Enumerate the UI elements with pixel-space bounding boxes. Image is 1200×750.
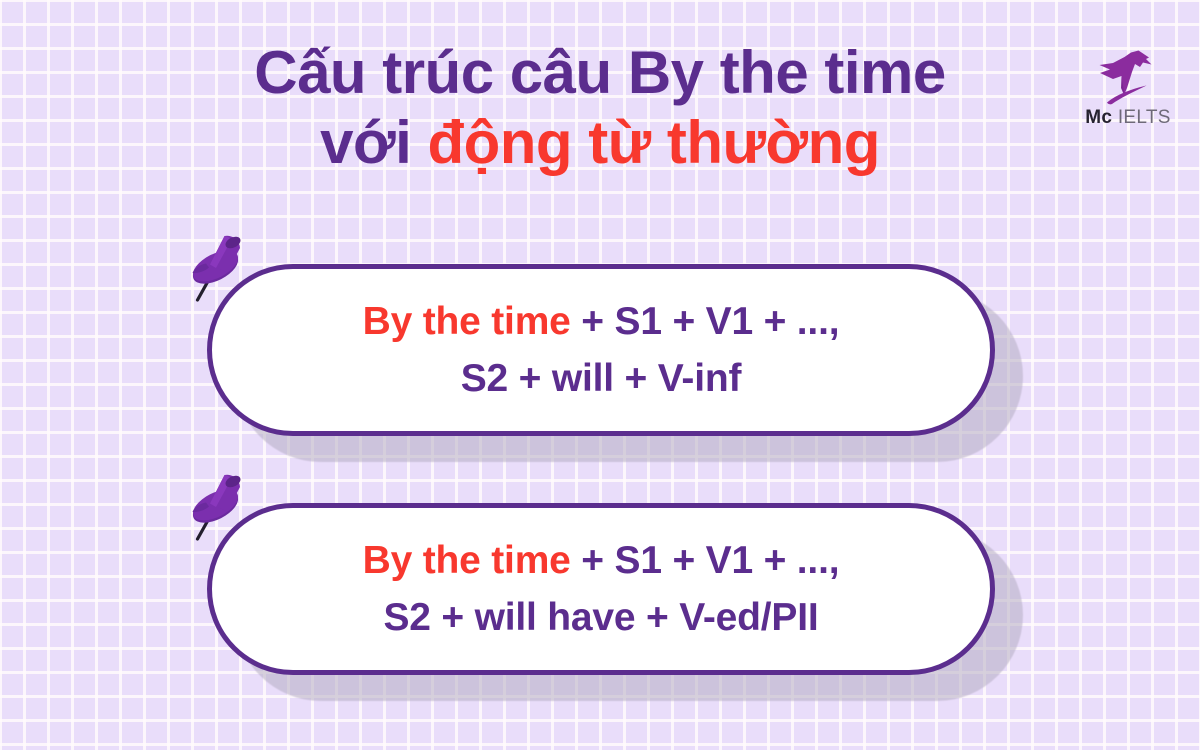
- card-2-line-1-rest: + S1 + V1 + ...,: [571, 539, 840, 582]
- card-1-line-1-rest: + S1 + V1 + ...,: [571, 300, 840, 343]
- pushpin-icon: [183, 471, 253, 547]
- page-title: Cấu trúc câu By the time với động từ thư…: [0, 38, 1200, 178]
- structure-card-2: By the time + S1 + V1 + ..., S2 + will h…: [207, 503, 995, 675]
- logo-mc-text: Mc: [1085, 107, 1112, 128]
- infographic-canvas: Cấu trúc câu By the time với động từ thư…: [0, 0, 1200, 750]
- card-2-highlight: By the time: [363, 539, 571, 582]
- logo-wordmark: Mc IELTS: [1068, 107, 1188, 129]
- title-line-2-highlight: động từ thường: [427, 109, 879, 176]
- card-body: By the time + S1 + V1 + ..., S2 + will h…: [207, 503, 995, 675]
- hummingbird-icon: [1091, 44, 1165, 106]
- card-1-highlight: By the time: [363, 300, 571, 343]
- pushpin-icon: [183, 232, 253, 308]
- title-line-1: Cấu trúc câu By the time: [0, 38, 1200, 108]
- title-line-2-prefix: với: [320, 109, 427, 176]
- card-1-line-1: By the time + S1 + V1 + ...,: [363, 293, 840, 350]
- title-line-1-text: Cấu trúc câu By the time: [254, 39, 946, 106]
- logo-ielts-text: IELTS: [1118, 107, 1171, 128]
- brand-logo: Mc IELTS: [1068, 44, 1188, 140]
- card-2-line-1: By the time + S1 + V1 + ...,: [363, 532, 840, 589]
- card-2-line-2: S2 + will have + V-ed/PII: [383, 589, 818, 646]
- title-line-2: với động từ thường: [0, 108, 1200, 178]
- structure-card-1: By the time + S1 + V1 + ..., S2 + will +…: [207, 264, 995, 436]
- card-body: By the time + S1 + V1 + ..., S2 + will +…: [207, 264, 995, 436]
- card-1-line-2: S2 + will + V-inf: [461, 350, 742, 407]
